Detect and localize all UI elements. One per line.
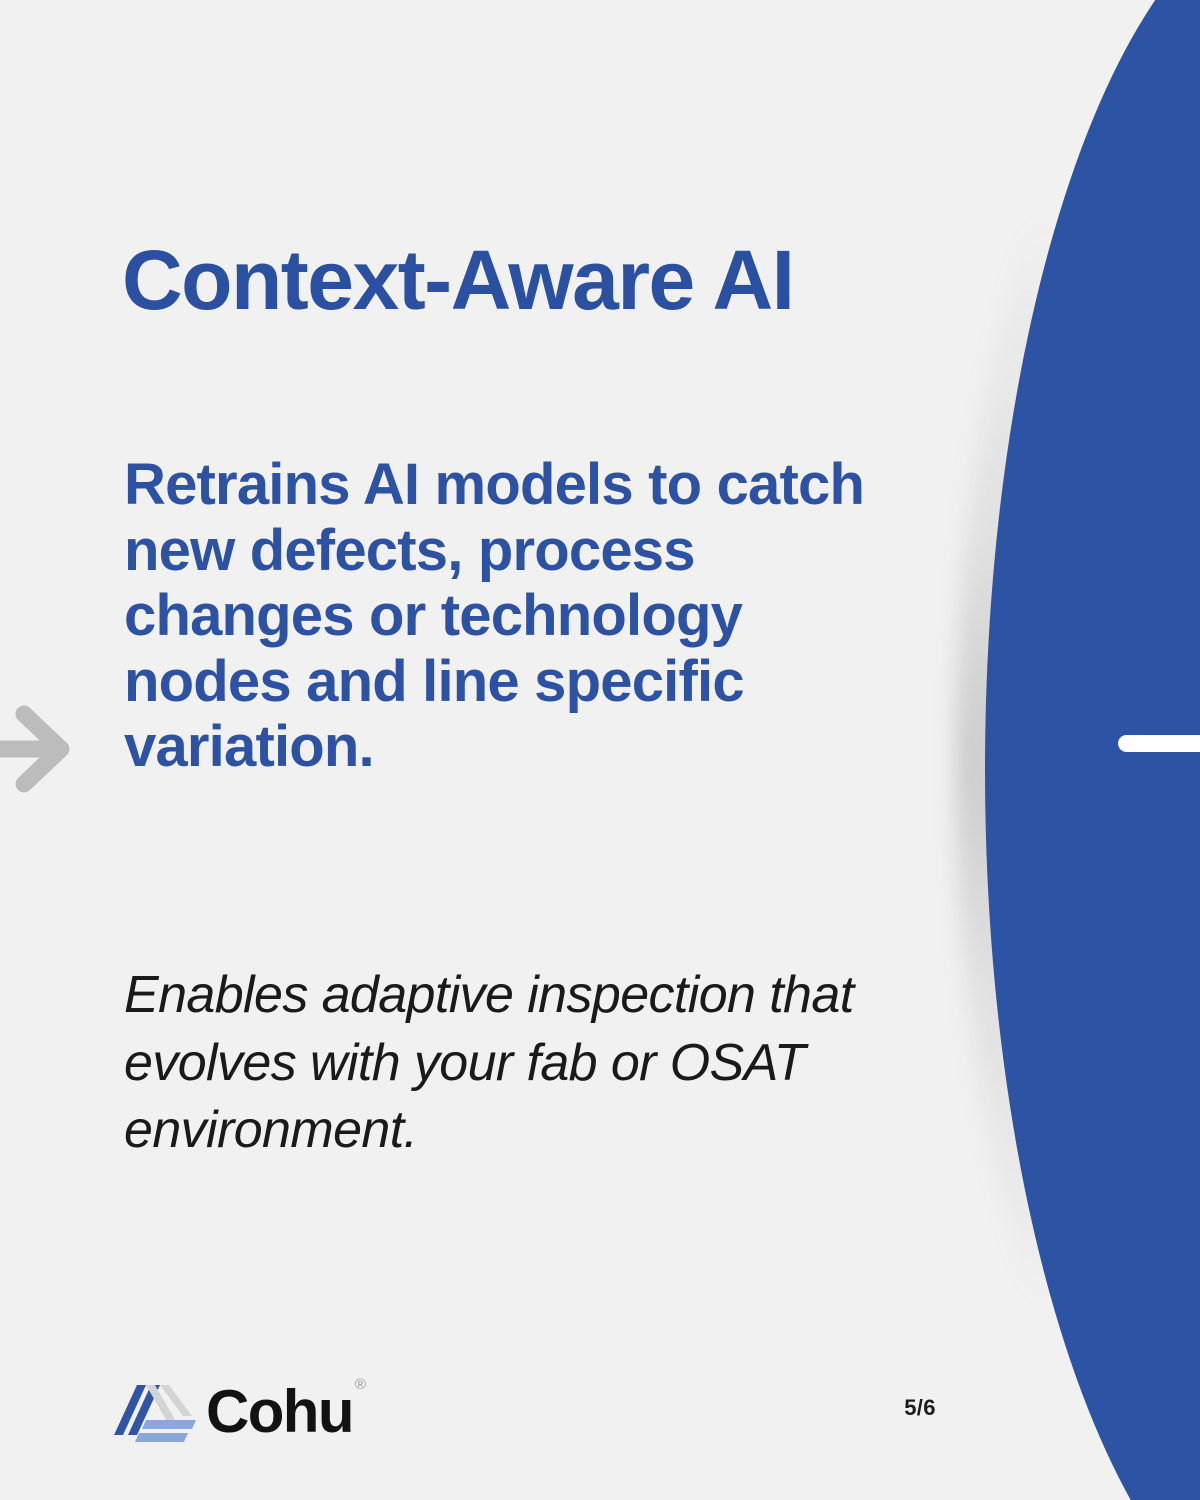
registered-trademark-icon: ®: [355, 1376, 366, 1393]
page-counter: 5/6: [880, 1395, 960, 1421]
page-title: Context-Aware AI: [122, 238, 1122, 322]
arrow-right-white-icon: [1118, 735, 1200, 752]
brand-logo: Cohu®: [112, 1378, 364, 1450]
prev-slide-arrow[interactable]: [0, 700, 76, 798]
body-text-secondary: Enables adaptive inspection that evolves…: [124, 962, 914, 1165]
arrow-right-gray-icon: [0, 700, 76, 798]
cohu-chevron-stripes-icon: [112, 1383, 200, 1445]
brand-wordmark: Cohu®: [206, 1382, 364, 1442]
next-slide-arrow[interactable]: [1118, 735, 1200, 752]
brand-name: Cohu: [206, 1378, 353, 1445]
body-text-primary: Retrains AI models to catch new defects,…: [124, 452, 924, 780]
slide-canvas: Context-Aware AI Retrains AI models to c…: [0, 0, 1200, 1500]
